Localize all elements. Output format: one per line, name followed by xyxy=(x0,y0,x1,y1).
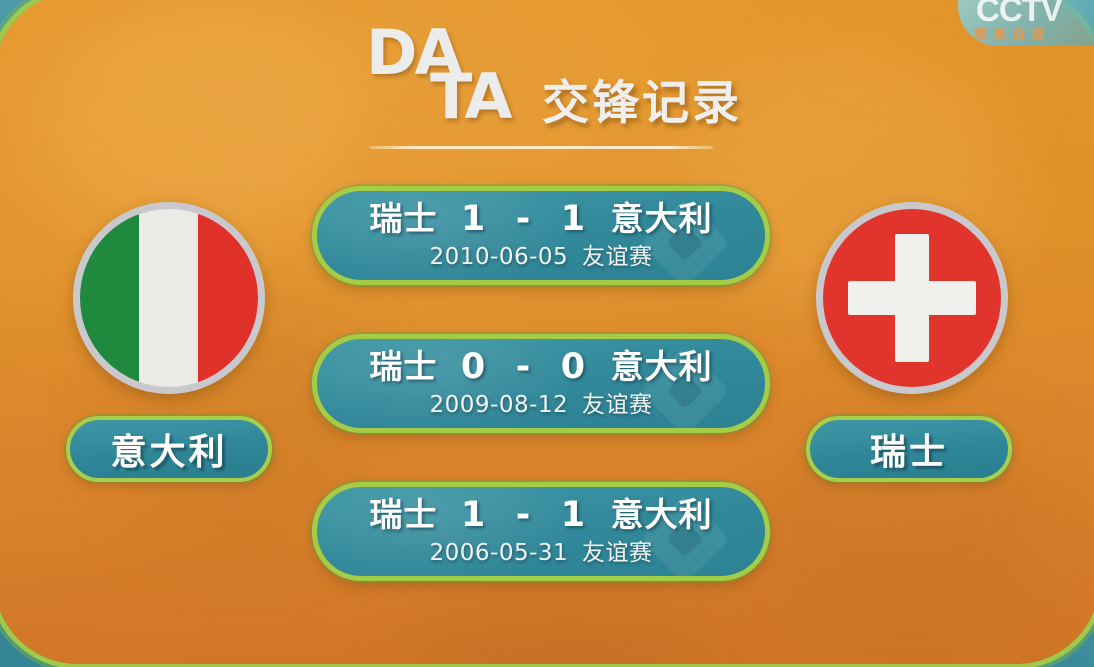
match-home-team: 瑞士 xyxy=(369,495,437,534)
match-away-team: 意大利 xyxy=(611,495,713,534)
match-meta: 2006-05-31 友谊赛 xyxy=(430,542,653,565)
match-card: 瑞士 0 - 0 意大利 2009-08-12 友谊赛 xyxy=(312,334,770,433)
match-away-team: 意大利 xyxy=(611,347,713,386)
match-competition: 友谊赛 xyxy=(582,540,653,566)
match-date: 2009-08-12 xyxy=(430,392,569,418)
match-home-score: 1 xyxy=(456,495,492,535)
head-to-head-list: 瑞士 1 - 1 意大利 2010-06-05 友谊赛 瑞士 0 xyxy=(312,186,770,581)
page-title: 交锋记录 xyxy=(542,80,742,127)
team-badge-right xyxy=(816,202,1008,394)
italy-flag-icon xyxy=(80,209,258,387)
match-away-score: 1 xyxy=(556,199,592,239)
title-block: DA TA 交锋记录 xyxy=(0,18,1088,158)
channel-watermark: CCTV 赛事直播 xyxy=(958,0,1094,46)
match-home-team: 瑞士 xyxy=(369,347,437,386)
switzerland-flag-icon xyxy=(823,209,1001,387)
match-scoreline: 瑞士 0 - 0 意大利 xyxy=(369,350,712,385)
match-home-score: 0 xyxy=(456,347,492,387)
match-meta: 2009-08-12 友谊赛 xyxy=(430,394,653,417)
team-name-left: 意大利 xyxy=(66,416,272,482)
team-name-right-label: 瑞士 xyxy=(870,423,948,475)
main-panel: DA TA 交锋记录 意大利 瑞士 xyxy=(0,0,1094,664)
team-badge-left xyxy=(73,202,265,394)
title-divider xyxy=(369,146,713,149)
italy-tricolour xyxy=(80,209,258,387)
match-score-separator: - xyxy=(511,495,538,535)
team-name-right: 瑞士 xyxy=(806,416,1012,482)
swiss-cross xyxy=(823,209,1001,387)
match-score-separator: - xyxy=(511,347,538,387)
match-competition: 友谊赛 xyxy=(582,244,653,270)
match-scoreline: 瑞士 1 - 1 意大利 xyxy=(369,202,712,237)
match-card: 瑞士 1 - 1 意大利 2010-06-05 友谊赛 xyxy=(312,186,770,285)
swiss-cross-vertical xyxy=(895,234,929,362)
match-date: 2006-05-31 xyxy=(430,540,569,566)
match-card: 瑞士 1 - 1 意大利 2006-05-31 友谊赛 xyxy=(312,482,770,581)
match-competition: 友谊赛 xyxy=(582,392,653,418)
match-home-score: 1 xyxy=(456,199,492,239)
match-meta: 2010-06-05 友谊赛 xyxy=(430,246,653,269)
match-away-score: 0 xyxy=(556,347,592,387)
match-home-team: 瑞士 xyxy=(369,199,437,238)
match-away-score: 1 xyxy=(556,495,592,535)
data-logo: DA TA xyxy=(366,18,566,138)
cctv-logo-subtitle: 赛事直播 xyxy=(974,24,1050,43)
match-date: 2010-06-05 xyxy=(430,244,569,270)
broadcast-graphic: DA TA 交锋记录 意大利 瑞士 xyxy=(0,0,1094,667)
logo-text-ta: TA xyxy=(430,66,509,128)
match-scoreline: 瑞士 1 - 1 意大利 xyxy=(369,498,712,533)
panel-texture-5 xyxy=(414,592,714,664)
team-name-left-label: 意大利 xyxy=(110,423,227,475)
match-away-team: 意大利 xyxy=(611,199,713,238)
match-score-separator: - xyxy=(511,199,538,239)
